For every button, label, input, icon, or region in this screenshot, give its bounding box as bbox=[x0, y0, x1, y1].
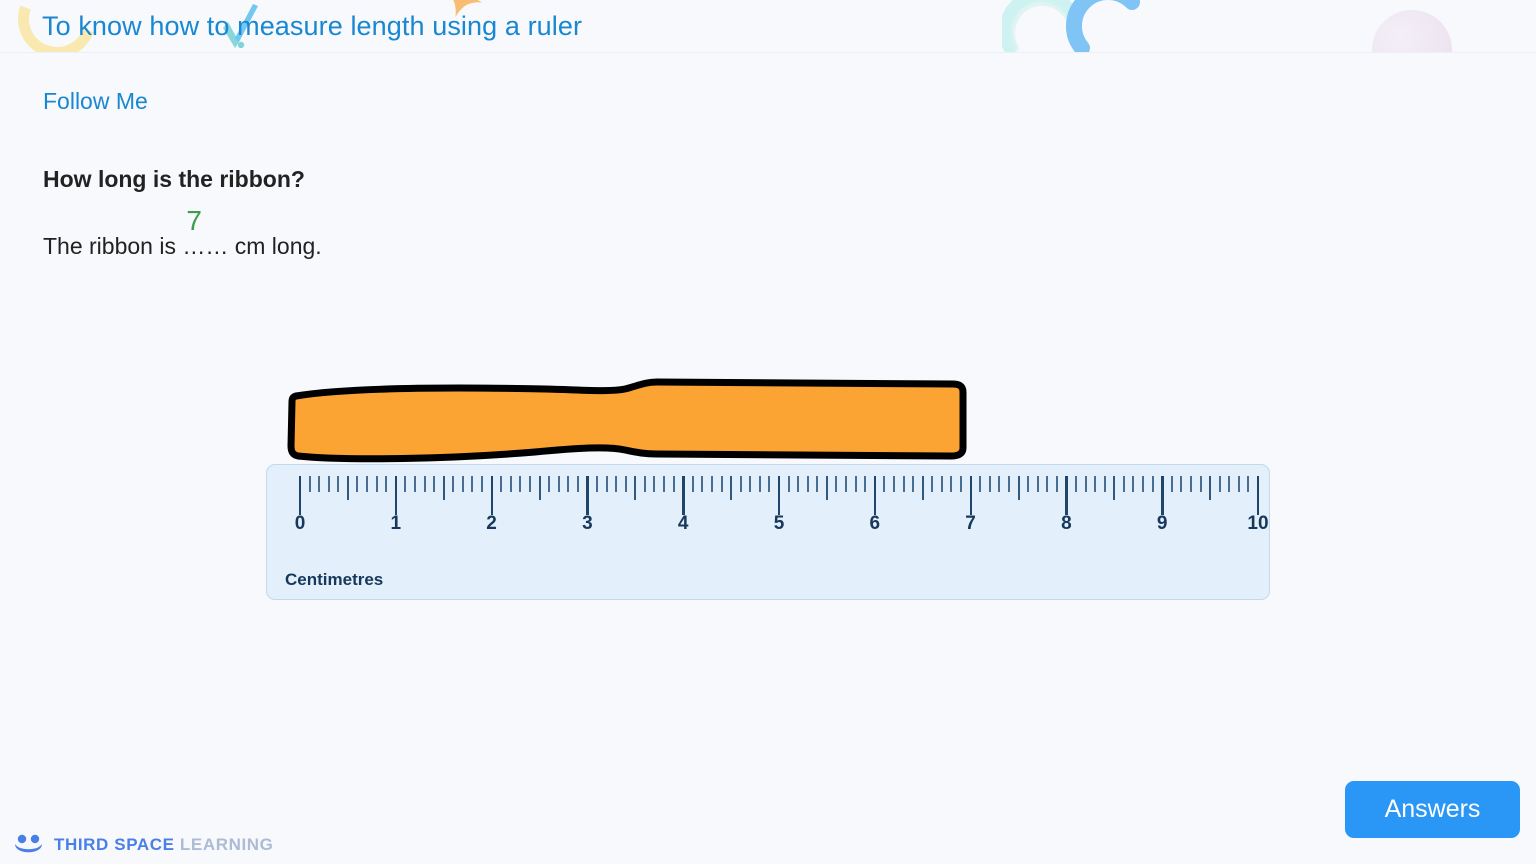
ruler-tick-mm bbox=[567, 476, 569, 492]
ruler-tick-mm bbox=[519, 476, 521, 492]
ruler-tick-mm bbox=[855, 476, 857, 492]
ruler-tick-mm bbox=[625, 476, 627, 492]
ruler-tick-mm bbox=[366, 476, 368, 492]
ruler-tick-mm bbox=[1046, 476, 1048, 492]
answer-blank[interactable]: ……7 bbox=[182, 233, 228, 260]
ruler-tick-mm bbox=[835, 476, 837, 492]
ruler-tick-mm bbox=[644, 476, 646, 492]
arc-shape-icon bbox=[1066, 0, 1152, 52]
ruler-tick-mm bbox=[1228, 476, 1230, 492]
ruler-tick-mm bbox=[1200, 476, 1202, 492]
ruler-tick-cm bbox=[970, 476, 972, 515]
sentence-suffix: cm long. bbox=[228, 233, 321, 259]
smiley-face-icon bbox=[14, 834, 44, 856]
ruler-tick-half bbox=[347, 476, 349, 500]
ruler-tick-mm bbox=[376, 476, 378, 492]
ruler-tick-mm bbox=[864, 476, 866, 492]
ruler-tick-mm bbox=[883, 476, 885, 492]
ruler-tick-mm bbox=[615, 476, 617, 492]
answer-sentence: The ribbon is ……7 cm long. bbox=[43, 233, 322, 260]
ruler-tick-cm bbox=[491, 476, 493, 515]
ruler-tick-mm bbox=[711, 476, 713, 492]
ruler-tick-mm bbox=[701, 476, 703, 492]
ruler-tick-mm bbox=[424, 476, 426, 492]
ruler-tick-mm bbox=[1142, 476, 1144, 492]
section-label: Follow Me bbox=[43, 88, 148, 115]
ruler-tick-mm bbox=[912, 476, 914, 492]
ruler-tick-mm bbox=[740, 476, 742, 492]
ruler-tick-mm bbox=[318, 476, 320, 492]
slide-stage: To know how to measure length using a ru… bbox=[0, 0, 1536, 864]
ruler-tick-mm bbox=[500, 476, 502, 492]
ruler-tick-cm bbox=[682, 476, 684, 515]
ruler-tick-mm bbox=[797, 476, 799, 492]
ruler-number-8: 8 bbox=[1061, 513, 1072, 535]
ruler-tick-mm bbox=[414, 476, 416, 492]
ruler-tick-cm bbox=[395, 476, 397, 515]
ruler-tick-cm bbox=[1257, 476, 1259, 515]
ruler-tick-mm bbox=[404, 476, 406, 492]
ruler-number-0: 0 bbox=[295, 513, 306, 535]
ruler-tick-mm bbox=[452, 476, 454, 492]
answer-value: 7 bbox=[186, 205, 202, 237]
ruler-number-3: 3 bbox=[582, 513, 593, 535]
ruler-tick-mm bbox=[1247, 476, 1249, 492]
ruler-number-7: 7 bbox=[965, 513, 976, 535]
ruler-tick-cm bbox=[299, 476, 301, 515]
ruler-tick-mm bbox=[989, 476, 991, 492]
ruler-tick-mm bbox=[558, 476, 560, 492]
ruler-tick-mm bbox=[768, 476, 770, 492]
ruler-tick-mm bbox=[577, 476, 579, 492]
ruler-tick-mm bbox=[749, 476, 751, 492]
ruler-tick-mm bbox=[1180, 476, 1182, 492]
ruler-tick-mm bbox=[1132, 476, 1134, 492]
ruler-tick-mm bbox=[893, 476, 895, 492]
ruler-tick-cm bbox=[778, 476, 780, 515]
ruler-tick-mm bbox=[845, 476, 847, 492]
ruler-tick-mm bbox=[1075, 476, 1077, 492]
ruler-tick-mm bbox=[979, 476, 981, 492]
ruler-number-10: 10 bbox=[1247, 513, 1268, 535]
answers-button[interactable]: Answers bbox=[1345, 781, 1520, 838]
ruler-tick-mm bbox=[1037, 476, 1039, 492]
brand-secondary: LEARNING bbox=[180, 835, 274, 854]
brand-logo: THIRD SPACE LEARNING bbox=[14, 834, 273, 856]
ruler-unit-label: Centimetres bbox=[285, 570, 383, 590]
brand-primary: THIRD SPACE bbox=[54, 835, 175, 854]
ruler-tick-mm bbox=[309, 476, 311, 492]
ruler-tick-half bbox=[922, 476, 924, 500]
ruler-tick-mm bbox=[356, 476, 358, 492]
ruler-tick-mm bbox=[1085, 476, 1087, 492]
ruler-tick-mm bbox=[385, 476, 387, 492]
ruler-tick-half bbox=[1018, 476, 1020, 500]
ruler-tick-mm bbox=[1190, 476, 1192, 492]
ruler-tick-mm bbox=[903, 476, 905, 492]
page-title: To know how to measure length using a ru… bbox=[42, 11, 582, 42]
ruler-number-5: 5 bbox=[774, 513, 785, 535]
ruler-tick-half bbox=[539, 476, 541, 500]
ruler-ticks bbox=[267, 465, 1271, 535]
ruler-tick-mm bbox=[950, 476, 952, 492]
ruler-tick-mm bbox=[1152, 476, 1154, 492]
ruler-tick-half bbox=[1209, 476, 1211, 500]
ruler-tick-cm bbox=[586, 476, 588, 515]
ruler-tick-mm bbox=[462, 476, 464, 492]
ruler-tick-mm bbox=[337, 476, 339, 492]
ruler-tick-mm bbox=[931, 476, 933, 492]
ruler-tick-half bbox=[634, 476, 636, 500]
arc-shape-icon bbox=[1002, 0, 1080, 52]
slide-header: To know how to measure length using a ru… bbox=[0, 0, 1536, 53]
ruler-tick-mm bbox=[596, 476, 598, 492]
ruler-tick-mm bbox=[1123, 476, 1125, 492]
ruler-tick-mm bbox=[1027, 476, 1029, 492]
ruler-tick-mm bbox=[816, 476, 818, 492]
ruler-tick-mm bbox=[1104, 476, 1106, 492]
ruler-tick-mm bbox=[548, 476, 550, 492]
ruler-number-4: 4 bbox=[678, 513, 689, 535]
ruler-tick-mm bbox=[1056, 476, 1058, 492]
ruler-tick-mm bbox=[807, 476, 809, 492]
ruler-tick-mm bbox=[960, 476, 962, 492]
ruler-tick-cm bbox=[874, 476, 876, 515]
ruler: 012345678910 Centimetres bbox=[266, 464, 1270, 600]
ruler-tick-mm bbox=[1238, 476, 1240, 492]
ruler-tick-half bbox=[826, 476, 828, 500]
ruler-tick-mm bbox=[471, 476, 473, 492]
ruler-tick-mm bbox=[788, 476, 790, 492]
brand-name: THIRD SPACE LEARNING bbox=[54, 835, 273, 855]
ruler-tick-mm bbox=[1219, 476, 1221, 492]
circle-shape-icon bbox=[1372, 10, 1452, 53]
ruler-tick-mm bbox=[328, 476, 330, 492]
ruler-tick-mm bbox=[721, 476, 723, 492]
ruler-tick-mm bbox=[653, 476, 655, 492]
ruler-tick-mm bbox=[529, 476, 531, 492]
ruler-tick-mm bbox=[481, 476, 483, 492]
ruler-number-2: 2 bbox=[486, 513, 497, 535]
ruler-tick-mm bbox=[673, 476, 675, 492]
ruler-tick-mm bbox=[941, 476, 943, 492]
ruler-tick-cm bbox=[1161, 476, 1163, 515]
ruler-tick-mm bbox=[606, 476, 608, 492]
ruler-tick-mm bbox=[1094, 476, 1096, 492]
ruler-tick-mm bbox=[663, 476, 665, 492]
ruler-tick-half bbox=[1113, 476, 1115, 500]
sentence-prefix: The ribbon is bbox=[43, 233, 182, 259]
ruler-tick-mm bbox=[1008, 476, 1010, 492]
ruler-tick-mm bbox=[759, 476, 761, 492]
ruler-number-6: 6 bbox=[870, 513, 881, 535]
ruler-number-1: 1 bbox=[391, 513, 402, 535]
ribbon-illustration bbox=[285, 376, 985, 471]
ruler-tick-mm bbox=[998, 476, 1000, 492]
ruler-tick-mm bbox=[692, 476, 694, 492]
ruler-number-9: 9 bbox=[1157, 513, 1168, 535]
ruler-tick-half bbox=[443, 476, 445, 500]
ruler-tick-mm bbox=[510, 476, 512, 492]
ruler-tick-cm bbox=[1065, 476, 1067, 515]
ruler-tick-mm bbox=[1171, 476, 1173, 492]
ruler-tick-half bbox=[730, 476, 732, 500]
question-text: How long is the ribbon? bbox=[43, 166, 305, 193]
ruler-tick-mm bbox=[433, 476, 435, 492]
